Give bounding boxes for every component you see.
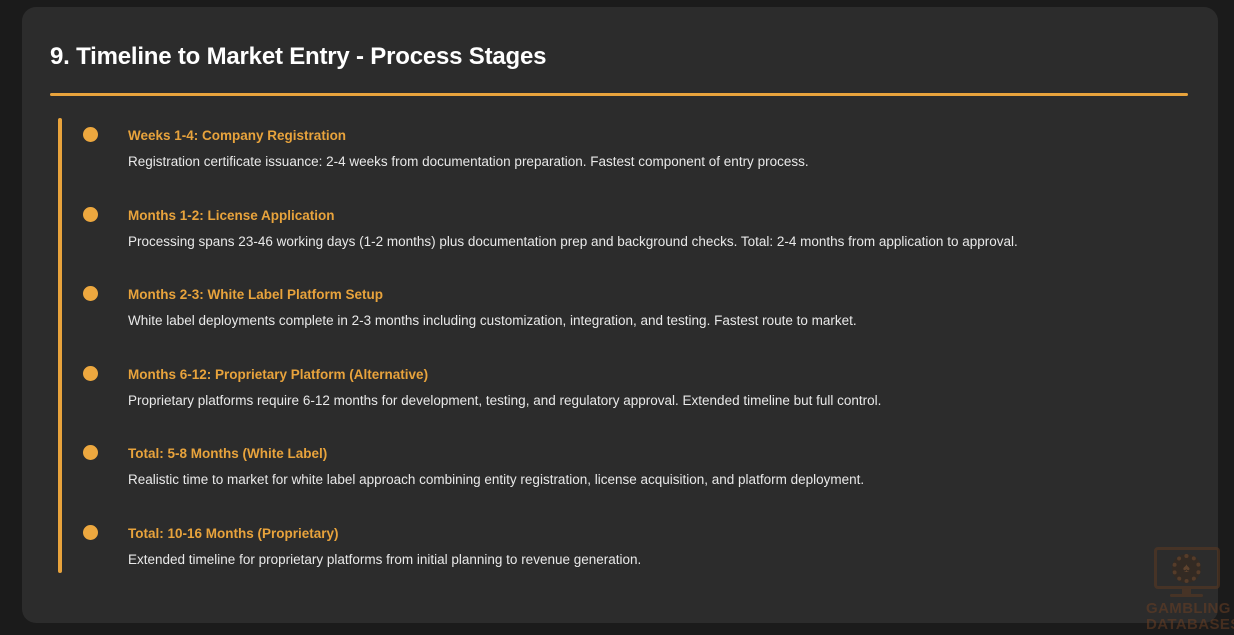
timeline-item-description: White label deployments complete in 2-3 … — [128, 303, 1190, 330]
timeline-item-heading: Months 2-3: White Label Platform Setup — [128, 270, 1190, 303]
timeline-dot-icon — [83, 445, 98, 460]
timeline-dot-icon — [83, 127, 98, 142]
timeline-item-6: Total: 10-16 Months (Proprietary) Extend… — [50, 509, 1190, 589]
page-title: 9. Timeline to Market Entry - Process St… — [50, 43, 546, 71]
timeline-item-description: Extended timeline for proprietary platfo… — [128, 542, 1190, 569]
timeline-item-5: Total: 5-8 Months (White Label) Realisti… — [50, 429, 1190, 509]
timeline-item-3: Months 2-3: White Label Platform Setup W… — [50, 270, 1190, 350]
timeline-item-description: Proprietary platforms require 6-12 month… — [128, 383, 1190, 410]
timeline-dot-icon — [83, 286, 98, 301]
timeline-item-description: Processing spans 23-46 working days (1-2… — [128, 224, 1190, 251]
timeline-item-1: Weeks 1-4: Company Registration Registra… — [50, 111, 1190, 191]
title-divider — [50, 93, 1188, 96]
timeline-item-description: Realistic time to market for white label… — [128, 462, 1190, 489]
slide-card: 9. Timeline to Market Entry - Process St… — [22, 7, 1218, 623]
timeline-item-2: Months 1-2: License Application Processi… — [50, 191, 1190, 271]
timeline-item-heading: Weeks 1-4: Company Registration — [128, 111, 1190, 144]
timeline-item-heading: Total: 10-16 Months (Proprietary) — [128, 509, 1190, 542]
timeline-dot-icon — [83, 366, 98, 381]
timeline-item-description: Registration certificate issuance: 2-4 w… — [128, 144, 1190, 171]
timeline-dot-icon — [83, 525, 98, 540]
timeline-item-4: Months 6-12: Proprietary Platform (Alter… — [50, 350, 1190, 430]
timeline-item-heading: Months 1-2: License Application — [128, 191, 1190, 224]
timeline-item-heading: Months 6-12: Proprietary Platform (Alter… — [128, 350, 1190, 383]
timeline: Weeks 1-4: Company Registration Registra… — [50, 111, 1190, 588]
timeline-item-heading: Total: 5-8 Months (White Label) — [128, 429, 1190, 462]
timeline-dot-icon — [83, 207, 98, 222]
